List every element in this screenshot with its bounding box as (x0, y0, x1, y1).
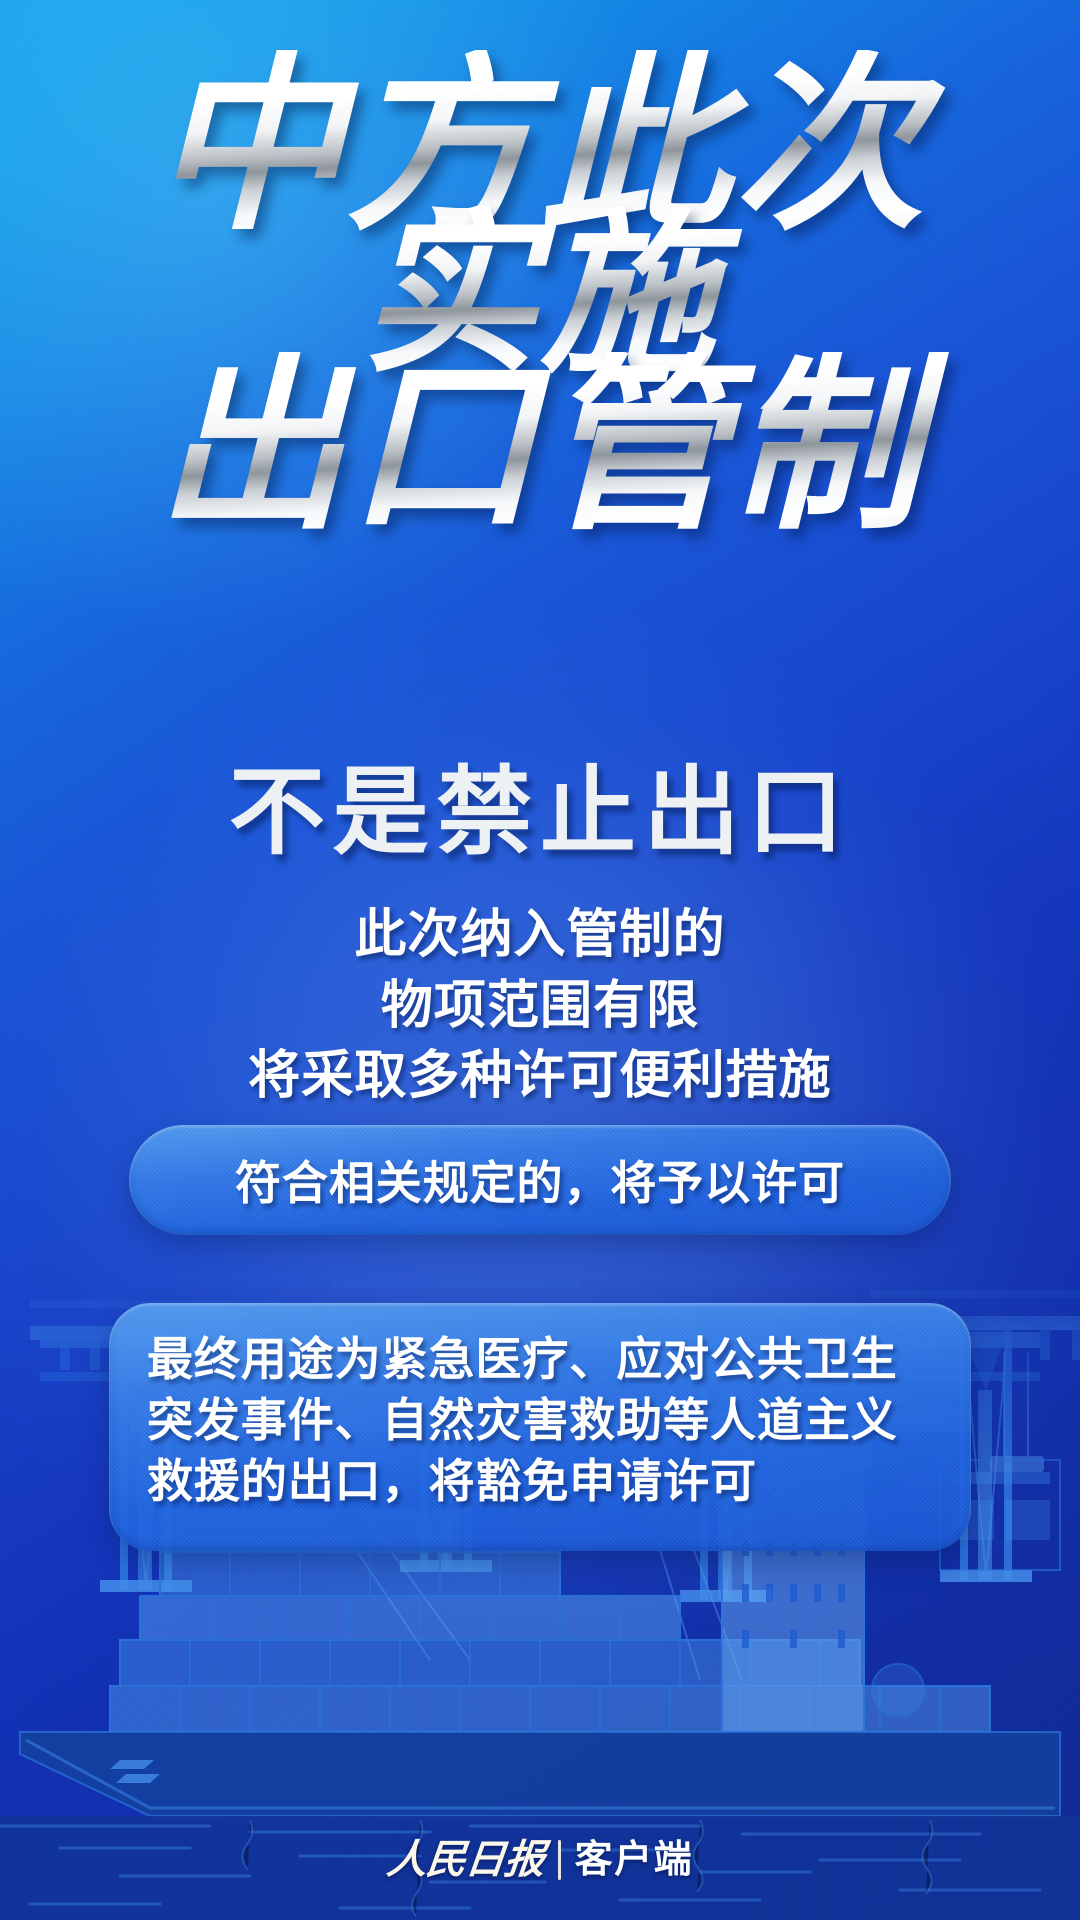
pill-list: 符合相关规定的，将予以许可 最终用途为紧急医疗、应对公共卫生突发事件、自然灾害救… (0, 1125, 1080, 1551)
lead-paragraph: 此次纳入管制的 物项范围有限 将采取多种许可便利措施 (0, 900, 1080, 1112)
lead-line-3: 将采取多种许可便利措施 (0, 1041, 1080, 1112)
lead-line-2: 物项范围有限 (0, 971, 1080, 1042)
poster-subtitle: 不是禁止出口 (0, 765, 1080, 861)
pill-card-exemption-text: 最终用途为紧急医疗、应对公共卫生突发事件、自然灾害救助等人道主义救援的出口，将豁… (147, 1333, 898, 1507)
app-name-label: 客户端 (575, 1841, 694, 1879)
pill-card-license-text: 符合相关规定的，将予以许可 (235, 1147, 845, 1213)
peoples-daily-logo: 人民日报 (385, 1840, 546, 1880)
pill-card-exemption: 最终用途为紧急医疗、应对公共卫生突发事件、自然灾害救助等人道主义救援的出口，将豁… (109, 1303, 971, 1551)
pill-card-license: 符合相关规定的，将予以许可 (129, 1125, 951, 1235)
poster-title: 中方此次 实施 出口管制 (0, 50, 1080, 540)
footer-brand: 人民日报 客户端 (0, 1840, 1080, 1880)
lead-line-1: 此次纳入管制的 (0, 900, 1080, 971)
poster-canvas: 中方此次 实施 出口管制 不是禁止出口 此次纳入管制的 物项范围有限 将采取多种… (0, 0, 1080, 1920)
brand-separator-icon (558, 1840, 561, 1880)
title-line-3: 出口管制 (0, 352, 1080, 540)
